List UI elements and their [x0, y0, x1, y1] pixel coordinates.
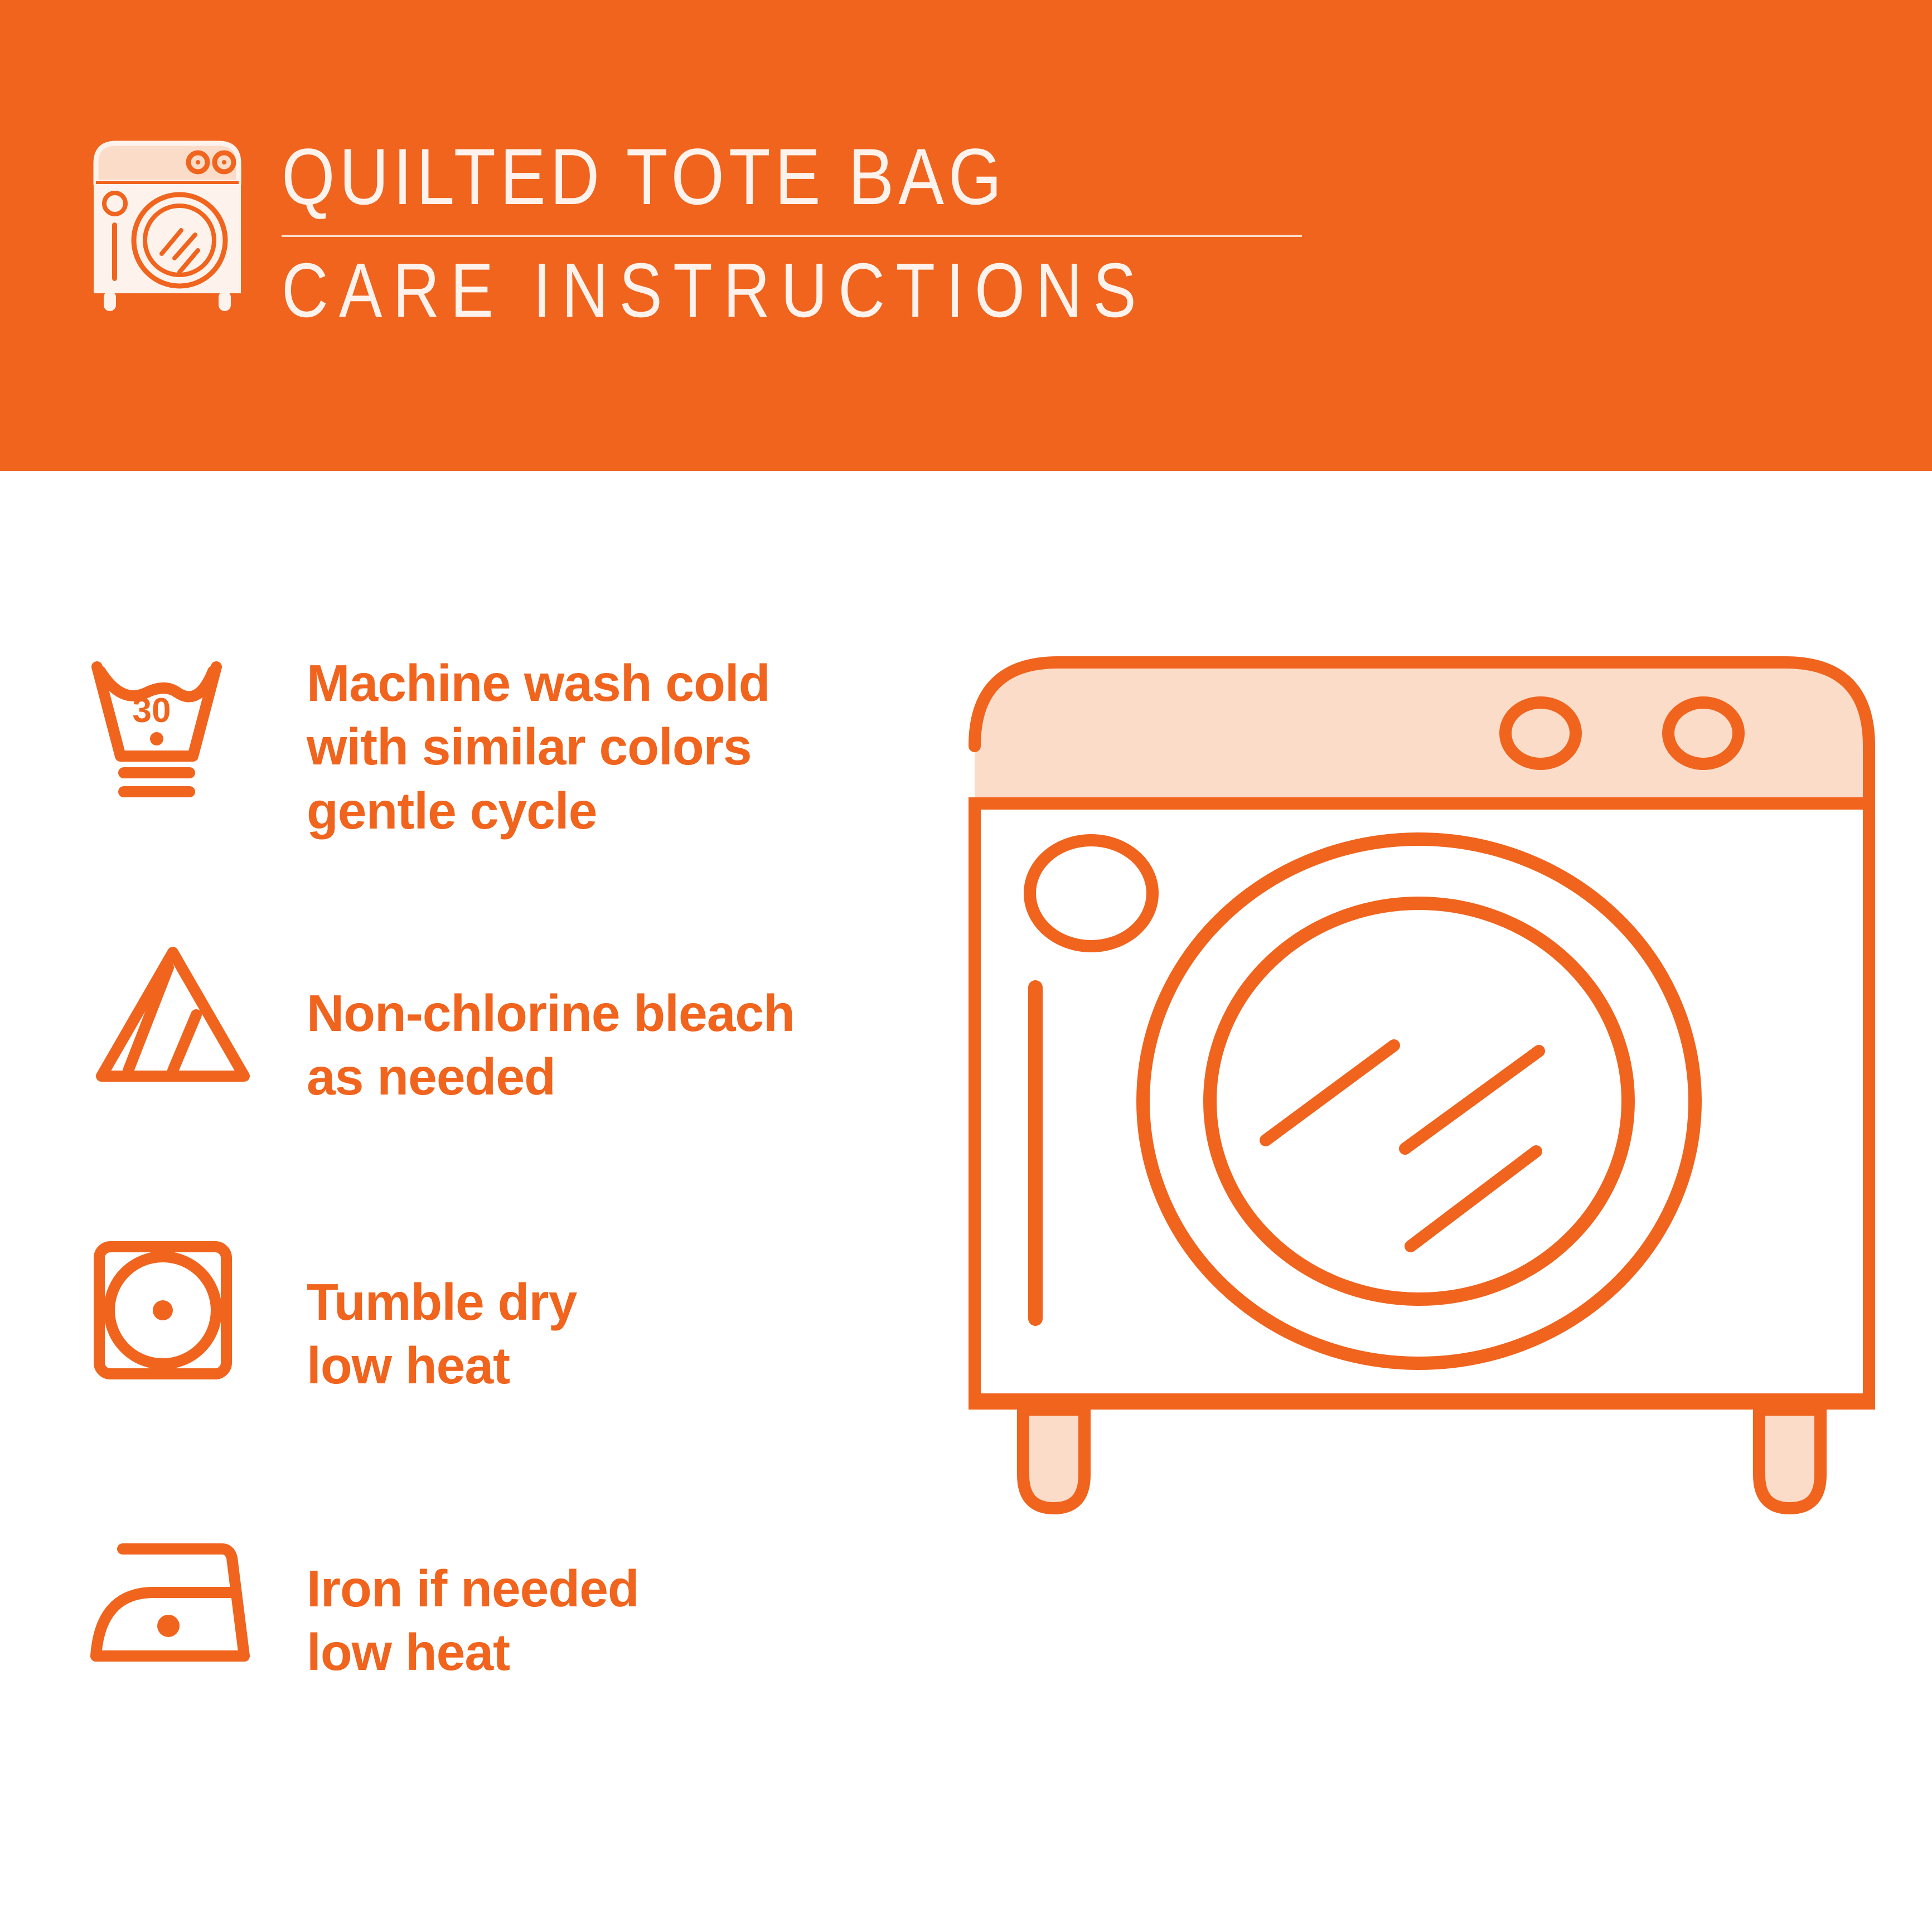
- care-row-iron: Iron if needed low heat: [84, 1517, 892, 1807]
- care-line: with similar colors: [307, 715, 892, 778]
- page-subtitle: CARE INSTRUCTIONS: [282, 251, 1147, 330]
- care-line: gentle cycle: [307, 779, 892, 842]
- care-row-bleach: Non-chlorine bleach as needed: [84, 937, 892, 1227]
- care-instruction-list: 30 Machine wash cold with similar colors…: [84, 647, 892, 1807]
- indicator-button: [1030, 840, 1153, 946]
- page-title: QUILTED TOTE BAG: [282, 137, 1168, 218]
- care-row-tumble-dry: Tumble dry low heat: [84, 1227, 892, 1517]
- care-line: low heat: [307, 1620, 892, 1684]
- non-chlorine-bleach-triangle-icon: [84, 937, 307, 1104]
- shine-line-1: [1266, 1045, 1394, 1140]
- title-divider: [282, 235, 1302, 237]
- shine-line-2: [1405, 1051, 1539, 1149]
- care-line: as needed: [307, 1045, 892, 1108]
- header-banner: QUILTED TOTE BAG CARE INSTRUCTIONS: [0, 0, 1932, 471]
- leg-right: [1759, 1410, 1820, 1508]
- care-label-iron: Iron if needed low heat: [307, 1517, 892, 1684]
- care-row-machine-wash: 30 Machine wash cold with similar colors…: [84, 647, 892, 937]
- panel-divider: [969, 797, 1875, 810]
- leg-left: [1023, 1410, 1084, 1508]
- care-line: Machine wash cold: [307, 651, 892, 715]
- care-label-tumble-dry: Tumble dry low heat: [307, 1227, 892, 1398]
- door-handle: [1028, 980, 1043, 1326]
- care-instructions-page: QUILTED TOTE BAG CARE INSTRUCTIONS: [0, 0, 1932, 1932]
- header-titles: QUILTED TOTE BAG CARE INSTRUCTIONS: [282, 131, 1312, 330]
- wash-tub-30-gentle-icon: 30: [84, 647, 307, 814]
- large-washing-machine-illustration: [948, 619, 1896, 1896]
- body-base: [969, 1394, 1875, 1410]
- header-content: QUILTED TOTE BAG CARE INSTRUCTIONS: [84, 131, 1312, 330]
- care-label-bleach: Non-chlorine bleach as needed: [307, 937, 892, 1109]
- iron-low-heat-icon: [84, 1517, 307, 1684]
- care-label-machine-wash: Machine wash cold with similar colors ge…: [307, 647, 892, 842]
- care-line: low heat: [307, 1334, 892, 1397]
- care-line: Iron if needed: [307, 1557, 892, 1620]
- wash-temp-label: 30: [133, 691, 171, 730]
- washing-machine-icon: [84, 131, 251, 315]
- drum-outer-ring: [1143, 839, 1695, 1363]
- tumble-dry-low-heat-icon: [84, 1227, 307, 1394]
- care-line: Non-chlorine bleach: [307, 981, 892, 1045]
- care-line: Tumble dry: [307, 1270, 892, 1334]
- shine-line-3: [1411, 1151, 1536, 1246]
